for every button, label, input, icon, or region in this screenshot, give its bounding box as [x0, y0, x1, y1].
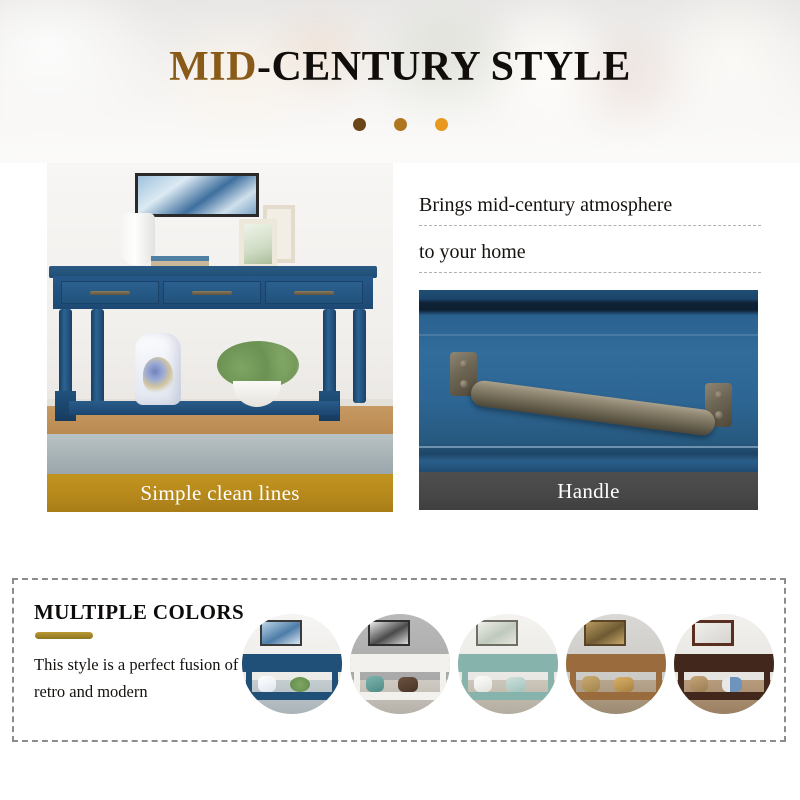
swatch-drawers — [566, 661, 666, 672]
glass-vase — [121, 213, 155, 265]
tagline-line-2: to your home — [419, 242, 761, 273]
swatch-wall-art — [476, 620, 518, 646]
swatch-white[interactable] — [350, 614, 450, 714]
swatch-drawers — [350, 661, 450, 672]
product-feature-page: MID-CENTURY STYLE — [0, 0, 800, 800]
swatch-wall-art — [584, 620, 626, 646]
swatch-decor-2 — [614, 677, 634, 692]
console-table-photo — [47, 163, 393, 474]
page-title-main: -CENTURY STYLE — [257, 44, 631, 90]
multiple-colors-body: This style is a perfect fusion of retro … — [34, 652, 264, 705]
swatch-decor-2 — [722, 677, 742, 692]
color-swatch-list — [242, 588, 782, 738]
swatch-shelf — [458, 692, 558, 700]
swatch-wall-art — [260, 620, 302, 646]
left-photo-caption: Simple clean lines — [47, 474, 393, 512]
swatch-wall-art — [692, 620, 734, 646]
swatch-decor-1 — [690, 676, 708, 692]
wall-art-painting — [135, 173, 259, 217]
table-leg-3 — [323, 309, 336, 403]
swatch-drawers — [242, 661, 342, 672]
page-title-accent: MID — [169, 44, 257, 90]
ceramic-jar — [135, 333, 181, 405]
drawer-1 — [61, 281, 159, 304]
photo-frame-front — [239, 219, 277, 269]
tagline-line-1: Brings mid-century atmosphere — [419, 195, 761, 226]
swatch-drawers — [674, 661, 774, 672]
swatch-decor-1 — [582, 676, 600, 692]
swatch-drawers — [458, 661, 558, 672]
room-rug — [47, 434, 393, 474]
swatch-decor-1 — [258, 676, 276, 692]
swatch-wall-art — [368, 620, 410, 646]
swatch-decor-1 — [366, 676, 384, 692]
drawer-2 — [163, 281, 261, 304]
decorative-dots — [0, 118, 800, 131]
tagline-block: Brings mid-century atmosphere to your ho… — [419, 195, 761, 273]
swatch-decor-1 — [474, 676, 492, 692]
swatch-oak-brown[interactable] — [566, 614, 666, 714]
drawer-3 — [265, 281, 363, 304]
right-photo-caption: Handle — [419, 472, 758, 510]
swatch-decor-2 — [506, 677, 526, 692]
swatch-decor-2 — [398, 677, 418, 692]
swatch-shelf — [566, 692, 666, 700]
dot-3-icon — [435, 118, 448, 131]
handle-closeup-photo — [419, 290, 758, 472]
swatch-shelf — [350, 692, 450, 700]
table-leg-4 — [353, 309, 366, 403]
page-title: MID-CENTURY STYLE — [0, 46, 800, 88]
table-leg-1 — [59, 309, 72, 403]
header-banner: MID-CENTURY STYLE — [0, 0, 800, 163]
drawer-seam-top — [419, 334, 758, 336]
dot-2-icon — [394, 118, 407, 131]
dot-1-icon — [353, 118, 366, 131]
multiple-colors-panel: MULTIPLE COLORS This style is a perfect … — [12, 578, 786, 742]
drawer-seam-bottom — [419, 446, 758, 448]
table-leg-2 — [91, 309, 104, 403]
lower-shelf — [69, 401, 339, 415]
swatch-navy-blue[interactable] — [242, 614, 342, 714]
drawer-row — [53, 276, 373, 309]
swatch-espresso[interactable] — [674, 614, 774, 714]
multiple-colors-title: MULTIPLE COLORS — [34, 600, 244, 625]
title-underline-rule — [35, 632, 93, 639]
swatch-teal[interactable] — [458, 614, 558, 714]
swatch-shelf — [674, 692, 774, 700]
swatch-decor-2 — [290, 677, 310, 692]
swatch-shelf — [242, 692, 342, 700]
